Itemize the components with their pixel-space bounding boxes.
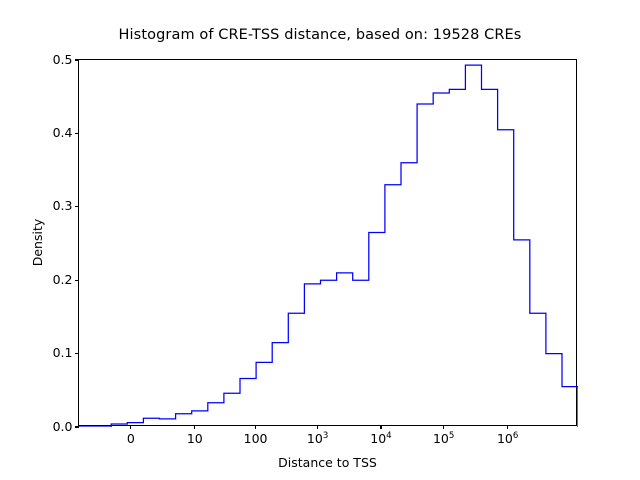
plot-axes-area: 0.00.10.20.30.40.5 010100103104105106 [78,59,577,426]
y-tick-mark [75,426,79,427]
x-tick-mark [194,425,195,429]
x-tick-label: 105 [433,431,454,446]
y-tick-label: 0.5 [53,52,73,67]
y-tick-mark [75,133,79,134]
y-tick-mark [75,206,79,207]
x-tick-label: 104 [370,431,391,446]
x-tick-mark [443,425,444,429]
histogram-step-line [79,60,578,427]
y-tick-label: 0.4 [53,125,73,140]
y-tick-mark [75,280,79,281]
x-tick-mark [255,425,256,429]
y-tick-mark [75,59,79,60]
x-tick-mark [130,425,131,429]
y-tick-mark [75,353,79,354]
x-tick-mark [380,425,381,429]
x-tick-mark [317,425,318,429]
x-tick-label: 0 [127,431,135,446]
y-tick-label: 0.1 [53,345,73,360]
x-tick-label: 10 [187,431,203,446]
y-tick-label: 0.3 [53,198,73,213]
y-axis-label: Density [30,59,45,426]
x-tick-mark [507,425,508,429]
x-axis-label: Distance to TSS [78,455,577,470]
x-tick-label: 106 [497,431,518,446]
x-tick-label: 103 [307,431,328,446]
y-tick-label: 0.2 [53,272,73,287]
histogram-figure: Histogram of CRE-TSS distance, based on:… [0,0,640,480]
y-tick-label: 0.0 [53,419,73,434]
x-tick-label: 100 [244,431,268,446]
page-title: Histogram of CRE-TSS distance, based on:… [0,27,640,43]
